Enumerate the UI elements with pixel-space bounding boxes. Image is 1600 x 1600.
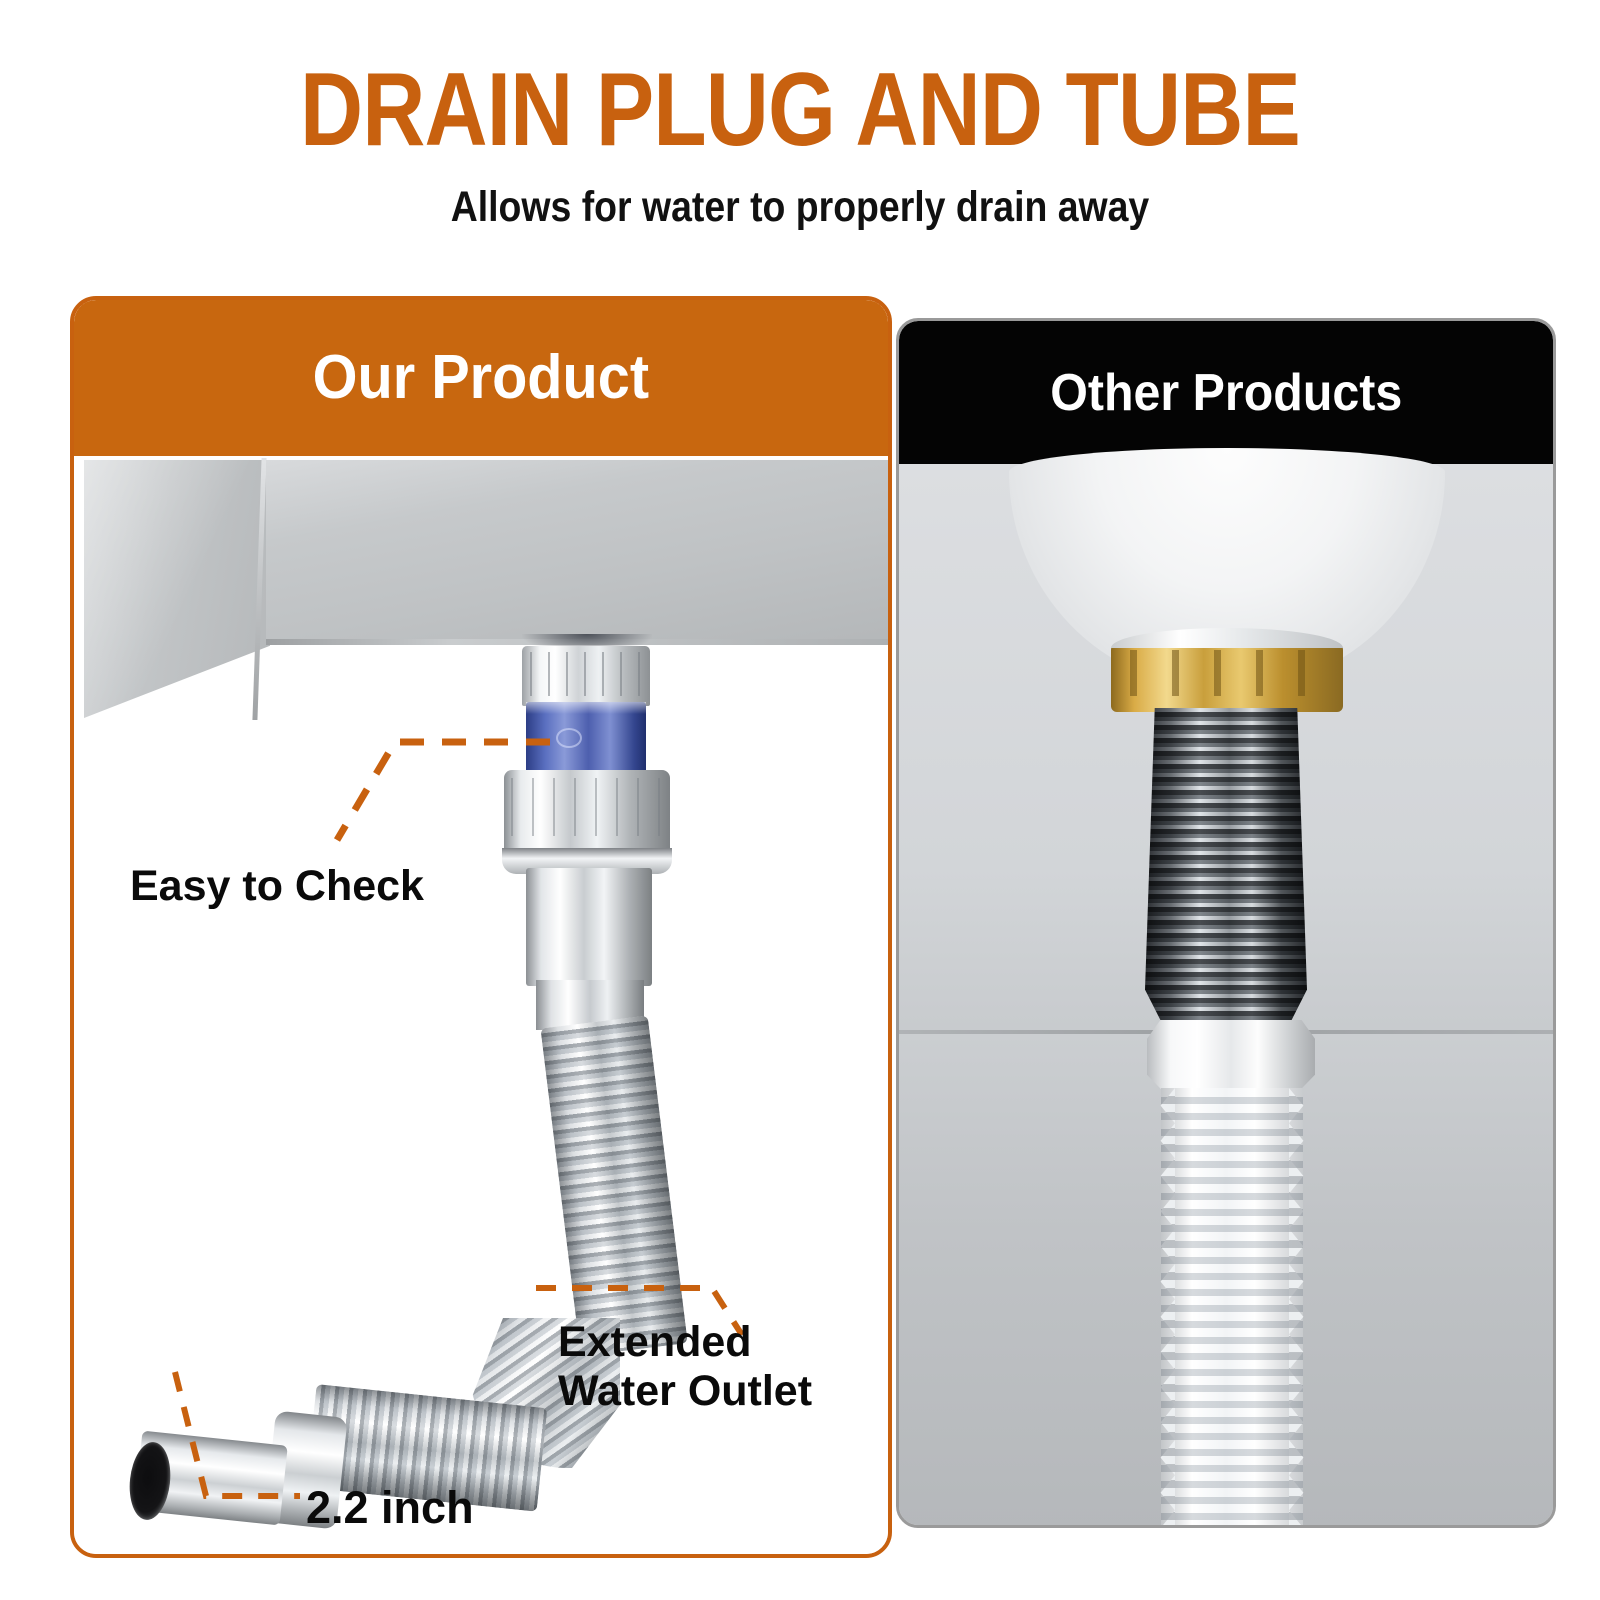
callout-extended-water-outlet: Extended Water Outlet	[558, 1318, 812, 1416]
white-corrugated-hose-image	[1161, 1088, 1303, 1528]
our-product-banner-label: Our Product	[313, 342, 649, 413]
blue-inspection-window-image	[526, 702, 646, 780]
other-products-banner: Other Products	[899, 321, 1553, 467]
our-product-banner: Our Product	[74, 300, 888, 460]
dark-threaded-tailpiece-image	[1145, 708, 1307, 1028]
callout-easy-to-check: Easy to Check	[130, 862, 424, 911]
chrome-hex-nut-image	[522, 646, 650, 706]
flex-tube-vertical-image	[540, 1015, 687, 1356]
brass-drain-flange-image	[1111, 642, 1343, 712]
page-subtitle: Allows for water to properly drain away	[104, 186, 1496, 229]
chrome-barrel-image	[526, 868, 652, 986]
white-plastic-nut-image	[1147, 1020, 1315, 1092]
sink-front-panel-image	[266, 460, 888, 645]
other-products-photo	[899, 464, 1553, 1528]
other-products-banner-label: Other Products	[1050, 363, 1402, 423]
other-products-panel: Other Products	[896, 318, 1556, 1528]
infographic-canvas: DRAIN PLUG AND TUBE Allows for water to …	[0, 0, 1600, 1600]
inspection-window-mark	[556, 728, 582, 748]
sink-side-panel-image	[84, 460, 270, 718]
page-title: DRAIN PLUG AND TUBE	[128, 58, 1472, 162]
callout-outlet-length: 2.2 inch	[306, 1482, 474, 1533]
